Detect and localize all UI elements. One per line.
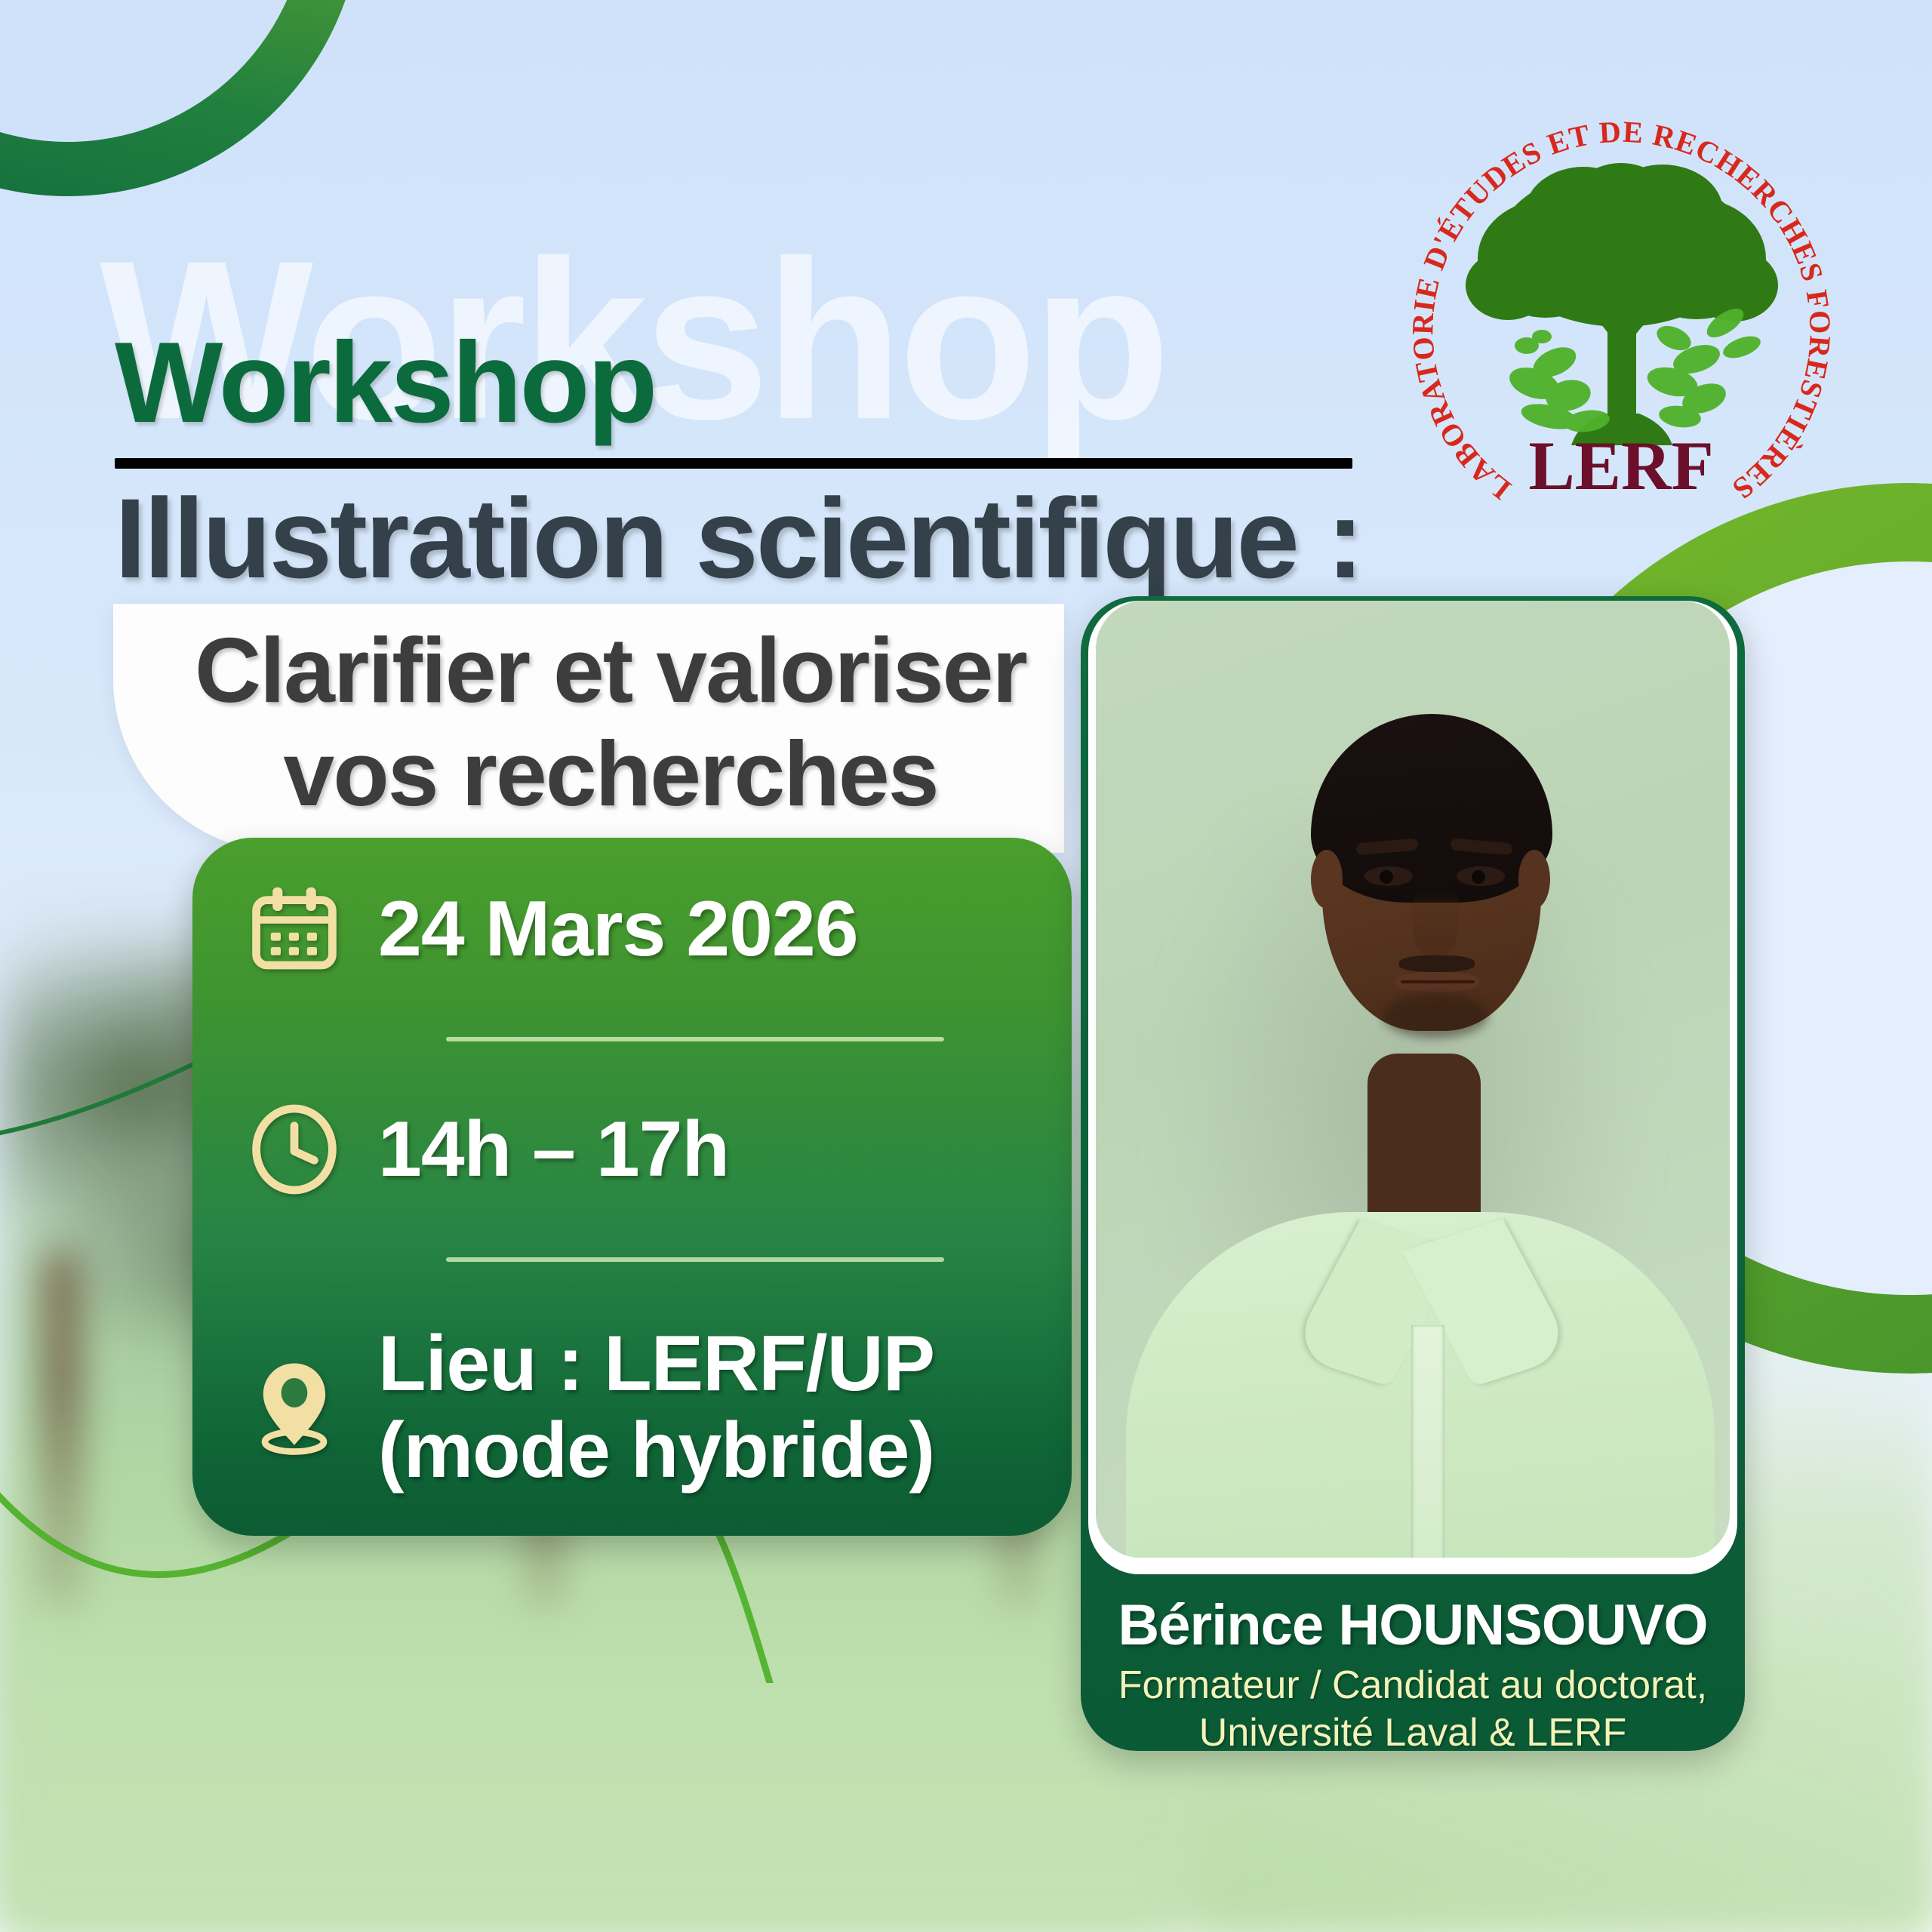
detail-date-text: 24 Mars 2026 xyxy=(378,886,858,972)
title-divider-rule xyxy=(115,458,1352,469)
detail-row-time: 14h – 17h xyxy=(245,1100,1026,1198)
location-pin-icon xyxy=(245,1358,343,1457)
calendar-icon xyxy=(245,880,343,978)
logo-acronym: LERF xyxy=(1528,427,1713,504)
lerf-logo: LABORATORIE D'ÉTUDES ET DE RECHERCHES FO… xyxy=(1387,97,1855,565)
poster-canvas: Workshop Workshop Illustration scientifi… xyxy=(0,0,1932,1932)
subtitle-card: Clarifier et valoriser vos recherches xyxy=(113,604,1064,853)
detail-location-text: Lieu : LERF/UP (mode hybride) xyxy=(378,1321,934,1494)
avatar xyxy=(1096,601,1730,1558)
detail-divider xyxy=(446,1037,944,1041)
detail-row-date: 24 Mars 2026 xyxy=(245,880,1026,978)
detail-row-location: Lieu : LERF/UP (mode hybride) xyxy=(245,1321,1026,1494)
subtitle-text: Clarifier et valoriser vos recherches xyxy=(195,619,1034,825)
tree-icon xyxy=(1466,163,1778,445)
speaker-photo-frame xyxy=(1088,601,1737,1574)
detail-time-text: 14h – 17h xyxy=(378,1106,729,1192)
headline-block: Workshop Illustration scientifique : xyxy=(115,325,1413,597)
event-details-card: 24 Mars 2026 14h – 17h Lieu : LERF/ xyxy=(192,838,1072,1536)
speaker-name: Bérince HOUNSOUVO xyxy=(1081,1592,1745,1658)
speaker-card: Bérince HOUNSOUVO Formateur / Candidat a… xyxy=(1081,596,1745,1751)
detail-divider xyxy=(446,1257,944,1262)
page-title-kicker: Workshop xyxy=(115,325,1413,441)
page-title-main: Illustration scientifique : xyxy=(115,479,1413,597)
clock-icon xyxy=(245,1100,343,1198)
speaker-role: Formateur / Candidat au doctorat, Univer… xyxy=(1081,1662,1745,1751)
